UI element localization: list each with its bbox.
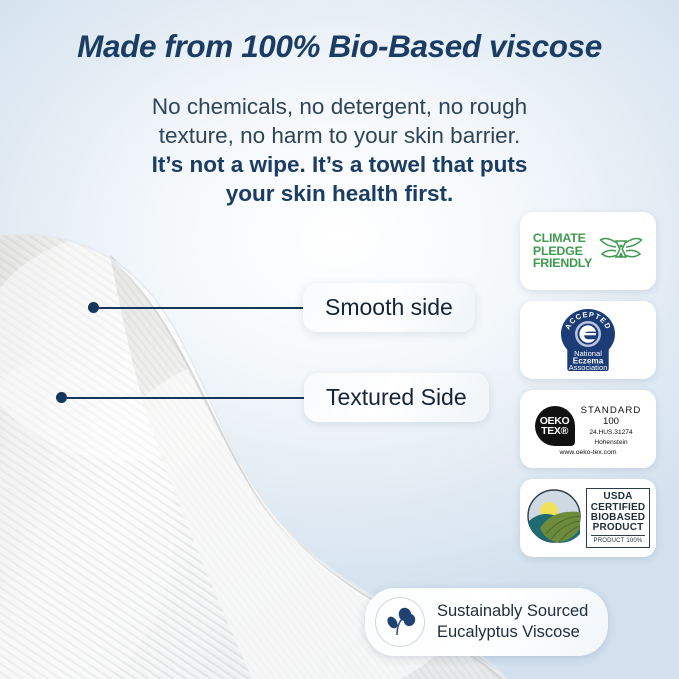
callout-leader-line [67, 397, 305, 399]
badge-usda-certified-biobased[interactable]: USDA CERTIFIED BIOBASED PRODUCT PRODUCT … [520, 479, 656, 557]
subheading-line-3: It’s not a wipe. It’s a towel that puts [0, 150, 679, 179]
callout-label: Textured Side [304, 373, 489, 422]
badge-climate-pledge-friendly[interactable]: CLIMATE PLEDGE FRIENDLY [520, 212, 656, 290]
usda-line-4: PRODUCT [591, 523, 646, 533]
subheading-line-1: No chemicals, no detergent, no rough [0, 92, 679, 121]
winged-hourglass-icon [599, 234, 643, 269]
oeko-standard-number: 100 [581, 416, 642, 427]
oeko-tex-mark-icon: OEKO TEX® [535, 406, 575, 446]
callout-textured-side[interactable]: Textured Side [56, 373, 489, 422]
oeko-institute: Hohenstein [581, 439, 642, 447]
eucalyptus-line-2: Eucalyptus Viscose [437, 622, 588, 643]
callout-anchor-dot [56, 392, 67, 403]
infographic-canvas: Made from 100% Bio-Based viscose No chem… [0, 0, 679, 679]
callout-smooth-side[interactable]: Smooth side [88, 283, 475, 332]
certification-badge-list: CLIMATE PLEDGE FRIENDLY [520, 212, 656, 568]
nea-seal-icon: ACCEPTED National Eczema Association [559, 307, 617, 373]
callout-anchor-dot [88, 302, 99, 313]
subheading-line-2: texture, no harm to your skin barrier. [0, 121, 679, 150]
eucalyptus-line-1: Sustainably Sourced [437, 601, 588, 622]
usda-footnote: PRODUCT 100% [591, 535, 646, 545]
svg-text:Association: Association [569, 363, 608, 372]
oeko-website: www.oeko-tex.com [559, 449, 616, 456]
callout-leader-line [99, 307, 304, 309]
eucalyptus-leaf-icon [375, 597, 425, 647]
page-title: Made from 100% Bio-Based viscose [0, 28, 679, 65]
cpf-line-3: FRIENDLY [533, 257, 592, 270]
badge-oeko-tex-standard-100[interactable]: OEKO TEX® STANDARD 100 24.HUS.31274 Hohe… [520, 390, 656, 468]
badge-national-eczema-association[interactable]: ACCEPTED National Eczema Association [520, 301, 656, 379]
sun-over-hills-icon [526, 488, 582, 549]
cpf-line-1: CLIMATE [533, 232, 592, 245]
oeko-certificate-number: 24.HUS.31274 [581, 429, 642, 437]
oeko-mark-line-2: TEX® [541, 426, 568, 437]
oeko-standard-label: STANDARD [581, 405, 642, 416]
callout-label: Smooth side [303, 283, 475, 332]
subheading: No chemicals, no detergent, no rough tex… [0, 92, 679, 208]
eucalyptus-source-pill[interactable]: Sustainably Sourced Eucalyptus Viscose [365, 588, 608, 656]
